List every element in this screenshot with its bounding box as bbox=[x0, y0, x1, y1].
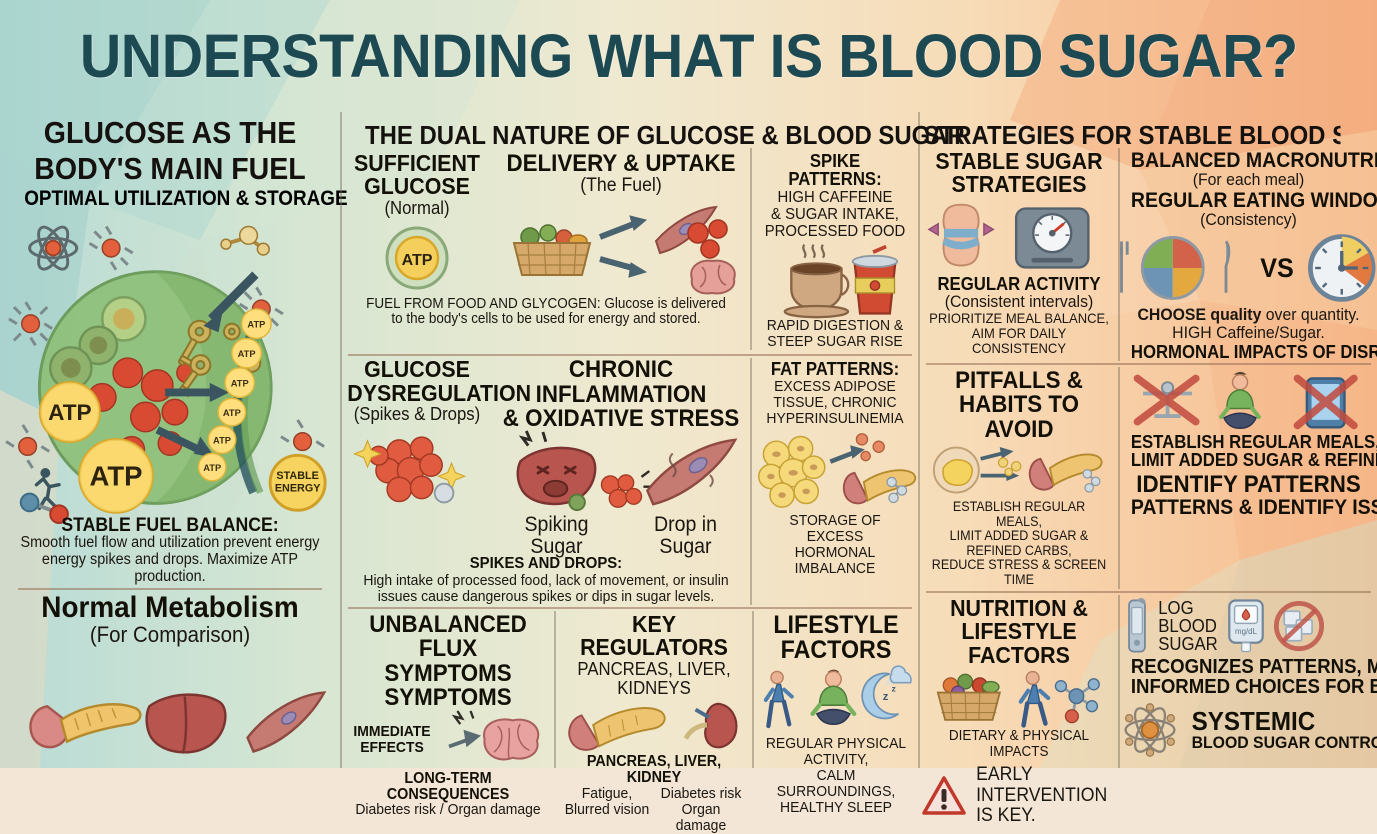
svg-text:ATP: ATP bbox=[203, 463, 221, 473]
identify-patterns-title: IDENTIFY PATTERNS bbox=[1131, 473, 1366, 497]
pitfalls-caption-1: ESTABLISH REGULAR MEALS, bbox=[929, 500, 1109, 529]
knife-icon bbox=[1226, 242, 1229, 293]
macros-subtitle2: (Consistency) bbox=[1131, 211, 1366, 229]
delivery-caption-line1: FUEL FROM FOOD AND GLYCOGEN: Glucose is … bbox=[356, 297, 735, 313]
longterm-label: LONG-TERM CONSEQUENCES bbox=[353, 771, 543, 803]
key-regulators-sub2: KIDNEYS bbox=[567, 679, 742, 698]
fat-cell-pancreas-icon bbox=[922, 442, 1116, 500]
regular-activity-title: REGULAR ACTIVITY bbox=[929, 275, 1109, 293]
lifestyle-caption-1: REGULAR PHYSICAL ACTIVITY, bbox=[763, 736, 908, 768]
spike-line2: & SUGAR INTAKE, bbox=[762, 206, 909, 223]
log-line1: LOG bbox=[1158, 599, 1218, 617]
no-sugar-icon bbox=[1272, 599, 1326, 653]
yoga-person-icon bbox=[1221, 372, 1259, 428]
chronic-inflammation-title-2: & OXIDATIVE STRESS bbox=[501, 407, 741, 431]
pitfalls-caption-2: LIMIT ADDED SUGAR & REFINED CARBS, bbox=[929, 529, 1109, 558]
stable-fuel-balance-line2: energy spikes and drops. Maximize ATP pr… bbox=[19, 552, 320, 585]
svg-text:ATP: ATP bbox=[48, 400, 91, 425]
sleep-moon-icon: z z bbox=[862, 666, 911, 718]
fat-line2: TISSUE, CHRONIC bbox=[762, 395, 909, 411]
establish-line1: ESTABLISH REGULAR MEALS, bbox=[1131, 433, 1366, 451]
choose-quality-rest: over quantity. bbox=[1261, 305, 1359, 324]
unbalanced-title-3: SYMPTOMS bbox=[353, 686, 543, 710]
spikes-drops-label: SPIKES AND DROPS: bbox=[470, 556, 622, 572]
nutrition-title-2: LIFESTYLE FACTORS bbox=[929, 620, 1109, 667]
muscle-cell-icon bbox=[248, 693, 325, 752]
normal-metabolism-subtitle: (For Comparison) bbox=[19, 623, 320, 647]
col3-row-top: STABLE SUGAR STRATEGIES bbox=[920, 148, 1377, 361]
spike-line1: HIGH CAFFEINE bbox=[762, 189, 909, 206]
log-line2: BLOOD bbox=[1158, 617, 1218, 635]
block-pitfalls: PITFALLS & HABITS TO AVOID bbox=[920, 367, 1118, 589]
block-stable-strategies: STABLE SUGAR STRATEGIES bbox=[920, 148, 1118, 361]
regular-activity-sub: (Consistent intervals) bbox=[929, 293, 1109, 311]
establish-line2: LIMIT ADDED SUGAR & REFINED CARBS bbox=[1131, 451, 1366, 469]
pitfalls-title-1: PITFALLS & bbox=[929, 369, 1109, 393]
walking-person-icon bbox=[766, 671, 792, 726]
unbalanced-title-2: FLUX SYMPTOMS bbox=[353, 637, 543, 686]
chronic-inflammation-title-1: CHRONIC INFLAMMATION bbox=[501, 358, 741, 407]
molecule-icon bbox=[1083, 470, 1100, 492]
lifestyle-caption-2: CALM SURROUNDINGS, bbox=[763, 768, 908, 800]
systemic-subtitle: BLOOD SUGAR CONTROL bbox=[1192, 734, 1377, 751]
block-spike-patterns: SPIKE PATTERNS: HIGH CAFFEINE & SUGAR IN… bbox=[752, 148, 918, 350]
delivery-uptake-subtitle: (The Fuel) bbox=[501, 176, 741, 196]
stable-fuel-balance-label: STABLE FUEL BALANCE: bbox=[19, 516, 320, 535]
pancreas-icon bbox=[31, 704, 141, 747]
soda-cup-icon bbox=[853, 247, 898, 314]
svg-text:ATP: ATP bbox=[213, 436, 231, 446]
molecule-icon bbox=[1055, 679, 1099, 723]
svg-text:ATP: ATP bbox=[402, 252, 433, 269]
liver-icon bbox=[147, 695, 226, 754]
column-strategies: STRATEGIES FOR STABLE BLOOD SUGAR STABLE… bbox=[920, 112, 1377, 768]
sufficient-glucose-subtitle: (Normal) bbox=[347, 199, 487, 218]
effects-left-line2: Blurred vision bbox=[563, 802, 650, 818]
fat-patterns-title: FAT PATTERNS: bbox=[762, 360, 909, 378]
angry-liver-icon bbox=[518, 431, 595, 510]
basket-walker-molecule-icon bbox=[922, 667, 1116, 729]
spike-caption-line1: RAPID DIGESTION & bbox=[762, 318, 909, 334]
glucose-cell-diagram: ATP ATP ATPATP ATPATP ATPATP bbox=[8, 213, 332, 513]
identify-patterns-subtitle: PATTERNS & IDENTIFY ISSUES bbox=[1131, 497, 1366, 518]
lancet-pen-icon bbox=[1122, 597, 1152, 655]
col3-row-bottom: NUTRITION & LIFESTYLE FACTORS bbox=[920, 595, 1377, 768]
block-fat-patterns: FAT PATTERNS: EXCESS ADIPOSE TISSUE, CHR… bbox=[752, 358, 918, 605]
lifestyle-title-1: LIFESTYLE bbox=[763, 613, 908, 639]
log-line3: SUGAR bbox=[1158, 635, 1218, 653]
block-lifestyle-factors: LIFESTYLE FACTORS bbox=[754, 611, 918, 768]
coffee-soda-icon bbox=[756, 242, 914, 318]
svg-text:ATP: ATP bbox=[90, 461, 143, 492]
fat-globule-icon bbox=[934, 448, 979, 493]
choose-quality-bold: CHOOSE quality bbox=[1137, 305, 1261, 324]
immediate-effects-line2: EFFECTS bbox=[349, 740, 435, 755]
poster-columns: GLUCOSE AS THE BODY'S MAIN FUEL OPTIMAL … bbox=[0, 112, 1377, 768]
food-to-cells-icon bbox=[492, 197, 750, 297]
macros-subtitle: (For each meal) bbox=[1131, 171, 1366, 189]
early-intervention-line2: IS KEY. bbox=[976, 806, 1111, 826]
svg-text:ATP: ATP bbox=[231, 379, 249, 389]
divider-col2-row2 bbox=[348, 607, 912, 609]
key-regulators-title: KEY REGULATORS bbox=[567, 613, 742, 660]
svg-text:ATP: ATP bbox=[247, 320, 265, 330]
stable-fuel-balance-line1: Smooth fuel flow and utilization prevent… bbox=[19, 535, 320, 552]
hormonal-line: HORMONAL IMPACTS OF DISRUPTIONS bbox=[1131, 343, 1366, 361]
glucose-dysregulation-title-1: GLUCOSE bbox=[347, 358, 487, 381]
col2-row-delivery: SUFFICIENT GLUCOSE (Normal) ATP DELIVERY… bbox=[342, 148, 918, 350]
divider-col3-row bbox=[926, 363, 1371, 365]
sufficient-glucose-title-2: GLUCOSE bbox=[347, 175, 487, 198]
macros-title2: REGULAR EATING WINDOWS bbox=[1131, 190, 1366, 211]
regular-activity-line1: PRIORITIZE MEAL BALANCE, bbox=[929, 311, 1109, 326]
lifestyle-caption-3: HEALTHY SLEEP bbox=[763, 800, 908, 816]
pitfalls-caption-3: REDUCE STRESS & SCREEN TIME bbox=[929, 558, 1109, 587]
stressed-muscle-icon bbox=[647, 439, 735, 503]
identify-caption-1: RECOGNIZES PATTERNS, MAKE bbox=[1131, 657, 1366, 677]
fat-caption-line2: HORMONAL IMBALANCE bbox=[762, 545, 909, 577]
fat-caption-line1: STORAGE OF EXCESS bbox=[762, 513, 909, 545]
poster-title-bar: UNDERSTANDING WHAT IS BLOOD SUGAR? bbox=[0, 0, 1377, 112]
unbalanced-title-1: UNBALANCED bbox=[353, 613, 543, 637]
effects-right-line1: Diabetes risk bbox=[657, 786, 744, 802]
glucose-dysregulation-subtitle: (Spikes & Drops) bbox=[347, 405, 487, 424]
walking-person-icon bbox=[1021, 672, 1048, 726]
divider-col3-row2 bbox=[926, 591, 1371, 593]
sufficient-glucose-title-1: SUFFICIENT bbox=[347, 152, 487, 175]
block-macronutrients: BALANCED MACRONUTRIENTS (For each meal) … bbox=[1120, 148, 1377, 361]
insulin-molecule-icon bbox=[221, 227, 269, 255]
glucose-dysregulation-title-2: DYSREGULATION bbox=[347, 382, 487, 405]
column-dual-nature: THE DUAL NATURE OF GLUCOSE & BLOOD SUGAR… bbox=[340, 112, 920, 768]
spike-line3: PROCESSED FOOD bbox=[762, 223, 909, 240]
atp-cell-icon: ATP bbox=[342, 222, 492, 292]
no-phone-icon bbox=[1297, 378, 1353, 427]
col1-subheading: OPTIMAL UTILIZATION & STORAGE bbox=[24, 184, 316, 211]
no-scale-yoga-no-phone-icon bbox=[1122, 369, 1375, 433]
pancreas-kidney-icon bbox=[560, 698, 748, 754]
early-intervention-line1: EARLY INTERVENTION bbox=[976, 765, 1111, 806]
nutrition-title-1: NUTRITION & bbox=[929, 597, 1109, 620]
col2-row-dysregulation: GLUCOSE DYSREGULATION (Spikes & Drops) bbox=[342, 358, 918, 605]
divider-col1 bbox=[18, 588, 322, 590]
spike-caption-line2: STEEP SUGAR RISE bbox=[762, 334, 909, 350]
lifestyle-title-2: FACTORS bbox=[763, 638, 908, 664]
svg-text:ATP: ATP bbox=[238, 349, 256, 359]
glucometer-icon: mg/dL bbox=[1224, 597, 1268, 655]
normal-metabolism-title: Normal Metabolism bbox=[19, 593, 320, 623]
effects-right-line2: Organ damage bbox=[657, 802, 744, 834]
pancreas-icon bbox=[569, 708, 664, 750]
caffeine-line: HIGH Caffeine/Sugar. bbox=[1131, 324, 1366, 342]
svg-text:mg/dL: mg/dL bbox=[1235, 627, 1258, 636]
waist-measure-icon bbox=[929, 205, 994, 266]
col3-heading: STRATEGIES FOR STABLE BLOOD SUGAR bbox=[920, 112, 1340, 148]
identify-caption-2: INFORMED CHOICES FOR BETTER bbox=[1131, 677, 1366, 697]
delivery-uptake-title: DELIVERY & UPTAKE bbox=[501, 152, 741, 176]
sugar-cluster-icon bbox=[342, 424, 492, 508]
walk-meditate-sleep-icon: z z bbox=[758, 664, 914, 736]
sugar-cluster-small-icon bbox=[601, 471, 653, 507]
nutrition-caption: DIETARY & PHYSICAL IMPACTS bbox=[929, 729, 1109, 760]
svg-text:STABLE: STABLE bbox=[276, 470, 318, 482]
vs-label: VS bbox=[1260, 255, 1294, 282]
log-tools-row: LOG BLOOD SUGAR mg/dL bbox=[1122, 597, 1375, 655]
immediate-effects-line1: IMMEDIATE bbox=[349, 724, 435, 739]
block-key-regulators: KEY REGULATORS PANCREAS, LIVER, KIDNEYS bbox=[556, 611, 752, 768]
svg-text:z: z bbox=[891, 683, 896, 693]
delivery-caption-line2: to the body's cells to be used for energ… bbox=[356, 312, 735, 328]
block-unbalanced-flux: UNBALANCED FLUX SYMPTOMS SYMPTOMS IMMEDI… bbox=[342, 611, 554, 768]
column-glucose-main-fuel: GLUCOSE AS THE BODY'S MAIN FUEL OPTIMAL … bbox=[0, 112, 340, 768]
col1-heading-line1: GLUCOSE AS THE bbox=[21, 112, 319, 148]
block-identify-patterns: LOG BLOOD SUGAR mg/dL bbox=[1120, 595, 1377, 768]
svg-text:ATP: ATP bbox=[223, 408, 241, 418]
page-title: UNDERSTANDING WHAT IS BLOOD SUGAR? bbox=[80, 21, 1298, 91]
key-regulators-sub1: PANCREAS, LIVER, bbox=[567, 660, 742, 679]
adipose-cells-icon bbox=[759, 436, 825, 507]
col2-heading: THE DUAL NATURE OF GLUCOSE & BLOOD SUGAR bbox=[365, 112, 895, 148]
meditating-person-icon bbox=[813, 670, 855, 725]
svg-text:z: z bbox=[883, 691, 889, 703]
coffee-cup-icon bbox=[785, 263, 848, 317]
vegetable-basket-icon bbox=[938, 675, 1000, 721]
block-establish-identify: ESTABLISH REGULAR MEALS, LIMIT ADDED SUG… bbox=[1120, 367, 1377, 589]
stable-title-2: STRATEGIES bbox=[929, 173, 1109, 196]
pitfalls-title-2: HABITS TO AVOID bbox=[929, 393, 1109, 442]
spikes-caption-line2: issues cause dangerous spikes or dips in… bbox=[356, 589, 735, 605]
clock-icon bbox=[1299, 230, 1377, 306]
warning-triangle-icon bbox=[922, 776, 966, 816]
inflamed-organs-icon bbox=[492, 432, 750, 514]
col3-row-mid: PITFALLS & HABITS TO AVOID bbox=[920, 367, 1377, 589]
systemic-row: SYSTEMIC BLOOD SUGAR CONTROL bbox=[1122, 702, 1375, 758]
systemic-title: SYSTEMIC bbox=[1192, 708, 1377, 734]
atom-icon bbox=[1122, 702, 1178, 758]
spiking-sugar-label: Spiking Sugar bbox=[497, 514, 617, 559]
fat-line1: EXCESS ADIPOSE bbox=[762, 379, 909, 395]
longterm-text: Diabetes risk / Organ damage bbox=[353, 802, 543, 818]
svg-text:ENERGY: ENERGY bbox=[275, 483, 321, 495]
weight-scale-icon bbox=[1016, 208, 1088, 267]
kidney-icon bbox=[686, 704, 737, 747]
col1-heading-line2: BODY'S MAIN FUEL bbox=[21, 148, 319, 184]
atom-icon bbox=[30, 223, 77, 274]
organs-label: PANCREAS, LIVER, KIDNEY bbox=[567, 754, 742, 786]
macros-title: BALANCED MACRONUTRIENTS bbox=[1131, 150, 1366, 171]
no-scale-icon bbox=[1137, 378, 1195, 421]
choose-quality-line: CHOOSE quality over quantity. bbox=[1131, 306, 1366, 324]
fork-icon bbox=[1120, 242, 1128, 293]
organs-row-col1 bbox=[8, 647, 332, 768]
col2-row-bottom: UNBALANCED FLUX SYMPTOMS SYMPTOMS IMMEDI… bbox=[342, 611, 918, 768]
spikes-caption-line1: High intake of processed food, lack of m… bbox=[356, 573, 735, 589]
waist-scale-icon bbox=[922, 199, 1116, 275]
fat-line3: HYPERINSULINEMIA bbox=[762, 411, 909, 427]
block-nutrition-lifestyle: NUTRITION & LIFESTYLE FACTORS bbox=[920, 595, 1118, 768]
regular-activity-line2: AIM FOR DAILY CONSISTENCY bbox=[929, 326, 1109, 356]
drop-in-sugar-label: Drop in Sugar bbox=[626, 514, 746, 559]
stable-title-1: STABLE SUGAR bbox=[929, 150, 1109, 173]
brain-icon bbox=[438, 711, 548, 769]
runner-icon bbox=[36, 468, 59, 508]
adipose-pancreas-icon bbox=[756, 427, 914, 513]
balanced-plate-icon bbox=[1120, 230, 1255, 306]
spike-patterns-title: SPIKE PATTERNS: bbox=[762, 152, 909, 189]
effects-left-line1: Fatigue, bbox=[563, 786, 650, 802]
